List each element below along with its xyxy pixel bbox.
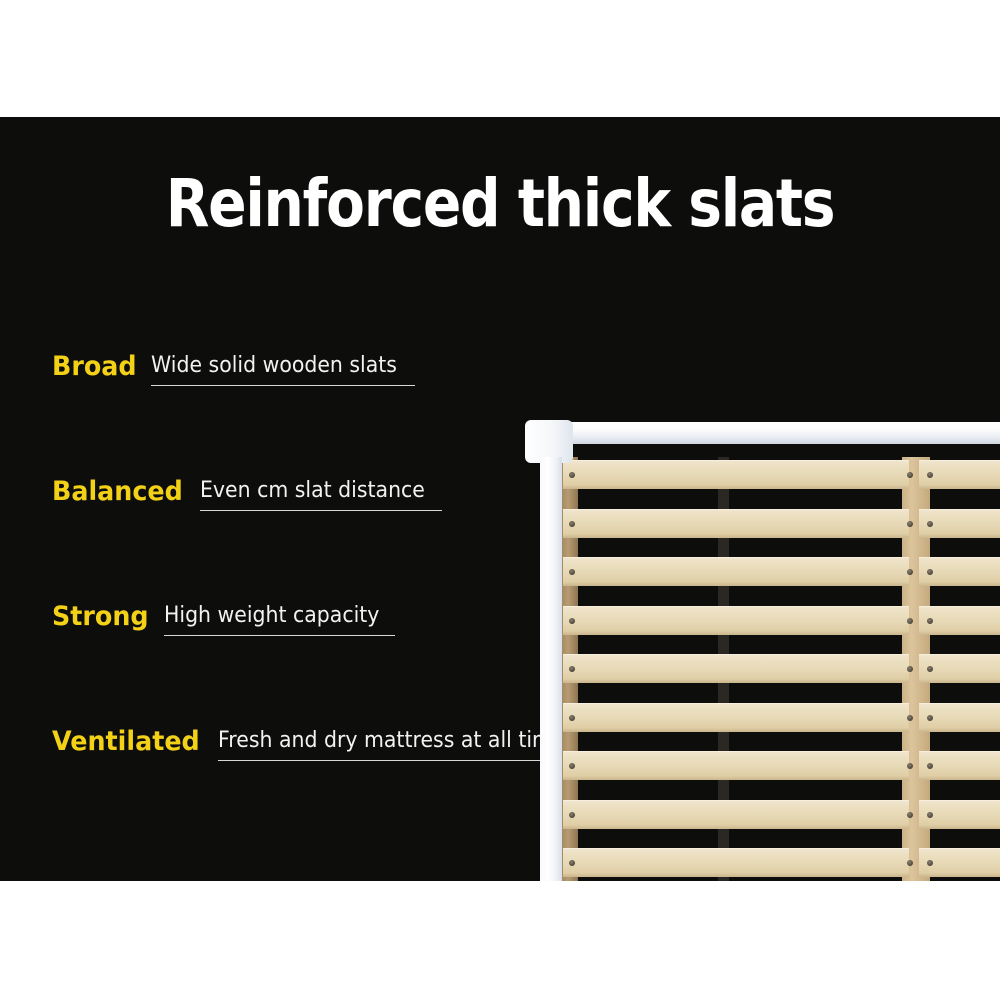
feature-item-balanced: Balanced Even cm slat distance [52,477,522,602]
feature-term: Broad [52,352,137,382]
feature-description: High weight capacity [164,602,379,630]
slat-screw-icon [569,860,575,866]
slat-segment-left [563,606,909,635]
feature-term: Balanced [52,477,183,507]
bed-frame-slats-photo [525,297,1000,881]
slat-screw-icon [927,618,933,624]
slat-screw-icon [927,763,933,769]
slat-screw-icon [927,812,933,818]
slat-segment-left [563,751,909,780]
slat-screw-icon [569,666,575,672]
promo-panel: Reinforced thick slats Broad Wide solid … [0,117,1000,881]
bottom-whitespace [0,881,1000,1000]
slat-screw-icon [569,618,575,624]
slat-screw-icon [907,618,913,624]
slat-screw-icon [907,812,913,818]
feature-list: Broad Wide solid wooden slats Balanced E… [52,352,522,852]
slat-segment-left [563,509,909,538]
page-title: Reinforced thick slats [70,165,930,242]
slat-segment-left [563,848,909,877]
feature-item-broad: Broad Wide solid wooden slats [52,352,522,477]
slat-screw-icon [927,521,933,527]
slat-screw-icon [927,472,933,478]
frame-top-rail [547,422,1000,444]
slat-screw-icon [569,812,575,818]
frame-corner-leg [540,457,562,881]
feature-description: Fresh and dry mattress at all times [218,727,575,755]
slat-screw-icon [907,715,913,721]
slat-screw-icon [927,569,933,575]
slat-segment-left [563,557,909,586]
slat-screw-icon [569,569,575,575]
feature-desc-underline: High weight capacity [164,602,396,636]
feature-description: Even cm slat distance [200,477,425,505]
slat-screw-icon [907,860,913,866]
slat-screw-icon [907,666,913,672]
slat-screw-icon [907,521,913,527]
slat-screw-icon [569,715,575,721]
feature-term: Ventilated [52,727,200,757]
slat-segment-left [563,654,909,683]
slat-screw-icon [569,521,575,527]
slat-segment-left [563,460,909,489]
slat-screw-icon [927,666,933,672]
slat-segment-left [563,703,909,732]
feature-description: Wide solid wooden slats [151,352,397,380]
slat-screw-icon [569,472,575,478]
slat-screw-icon [907,569,913,575]
feature-desc-underline: Wide solid wooden slats [151,352,415,386]
slat-screw-icon [927,860,933,866]
feature-item-ventilated: Ventilated Fresh and dry mattress at all… [52,727,522,852]
slat-screw-icon [907,763,913,769]
feature-desc-underline: Even cm slat distance [200,477,442,511]
rail-shadow [547,444,1000,456]
feature-item-strong: Strong High weight capacity [52,602,522,727]
slat-segment-left [563,800,909,829]
slat-screw-icon [907,472,913,478]
slat-screw-icon [927,715,933,721]
feature-term: Strong [52,602,149,632]
slat-screw-icon [569,763,575,769]
